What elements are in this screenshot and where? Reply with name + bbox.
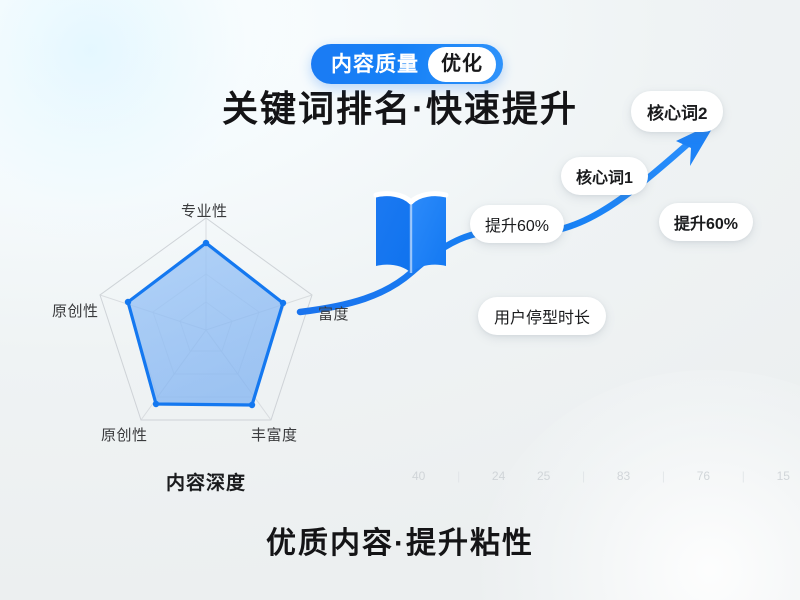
ruler-item: 15 [777,470,790,482]
content-depth-caption: 内容深度 [166,468,246,495]
tag-keyword-2[interactable]: 核心词2 [631,91,723,132]
ruler-item: 76 [697,470,710,482]
faint-ruler: 40 | 24 25 | 83 | 76 | 15 [412,466,790,486]
tag-uplift-left[interactable]: 提升60% [470,205,564,243]
footer-title: 优质内容·提升粘性 [0,518,800,562]
ruler-item: 25 [537,470,550,482]
badge-chip-label: 优化 [428,47,496,82]
ruler-item: 83 [617,470,630,482]
radar-axis-label-right: 富度 [318,303,349,324]
ruler-item: | [457,470,460,482]
status-badge[interactable]: 内容质量 优化 [311,44,503,84]
radar-axis-label-bottom-left: 原创性 [101,424,148,445]
ruler-item: 24 [492,470,505,482]
ruler-item: | [582,470,585,482]
open-book-icon [368,186,454,282]
ruler-item: 40 [412,470,425,482]
radar-axis-label-left: 原创性 [52,300,99,321]
radar-axis-label-top: 专业性 [181,200,228,221]
ruler-item: | [742,470,745,482]
poster-canvas: 内容质量 优化 关键词排名·快速提升 优质内容·提升粘性 专业性 原创性 富度 … [0,0,800,600]
tag-uplift-right[interactable]: 提升60% [659,203,753,241]
tag-dwell-time[interactable]: 用户停型时长 [478,297,606,335]
radar-axis-label-bottom-right: 丰富度 [251,424,298,445]
ruler-item: | [662,470,665,482]
tag-keyword-1[interactable]: 核心词1 [561,157,648,195]
badge-main-label: 内容质量 [331,54,419,75]
